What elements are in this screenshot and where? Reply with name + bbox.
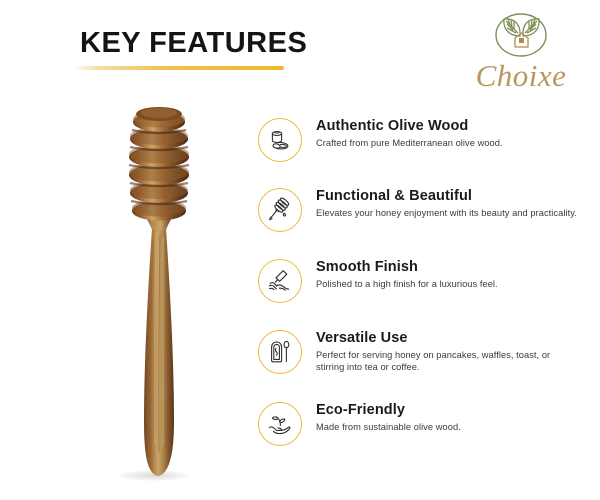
product-image-honey-dipper: [108, 100, 212, 485]
feature-item-functional-beautiful: Functional & Beautiful Elevates your hon…: [258, 188, 578, 246]
infographic-canvas: KEY FEATURES Choixe: [0, 0, 600, 500]
feature-item-eco-friendly: Eco-Friendly Made from sustainable olive…: [258, 402, 578, 460]
feature-title: Versatile Use: [316, 330, 578, 347]
brand-logo: Choixe: [462, 12, 580, 94]
feature-title: Eco-Friendly: [316, 402, 578, 419]
feature-description: Crafted from pure Mediterranean olive wo…: [316, 137, 578, 149]
feature-item-smooth-finish: Smooth Finish Polished to a high finish …: [258, 259, 578, 317]
feature-text: Versatile Use Perfect for serving honey …: [316, 330, 578, 374]
page-title: KEY FEATURES: [80, 26, 307, 60]
feature-text: Eco-Friendly Made from sustainable olive…: [316, 402, 578, 433]
brand-name: Choixe: [462, 58, 580, 94]
feature-description: Made from sustainable olive wood.: [316, 421, 578, 433]
feature-item-authentic-olive-wood: Authentic Olive Wood Crafted from pure M…: [258, 118, 578, 176]
feature-description: Polished to a high finish for a luxuriou…: [316, 278, 578, 290]
feature-title: Authentic Olive Wood: [316, 118, 578, 135]
feature-title: Smooth Finish: [316, 259, 578, 276]
wood-logs-icon: [258, 118, 302, 162]
feature-description: Perfect for serving honey on pancakes, w…: [316, 349, 578, 374]
toast-and-spoon-icon: [258, 330, 302, 374]
hand-sprout-icon: [258, 402, 302, 446]
feature-text: Functional & Beautiful Elevates your hon…: [316, 188, 578, 219]
feature-text: Authentic Olive Wood Crafted from pure M…: [316, 118, 578, 149]
honey-dipper-icon: [258, 188, 302, 232]
polishing-hand-icon: [258, 259, 302, 303]
feature-item-versatile-use: Versatile Use Perfect for serving honey …: [258, 330, 578, 388]
feature-text: Smooth Finish Polished to a high finish …: [316, 259, 578, 290]
feature-description: Elevates your honey enjoyment with its b…: [316, 207, 578, 219]
title-underline-rule: [72, 66, 284, 70]
feature-title: Functional & Beautiful: [316, 188, 578, 205]
leaf-circle-emblem-icon: [490, 12, 552, 60]
